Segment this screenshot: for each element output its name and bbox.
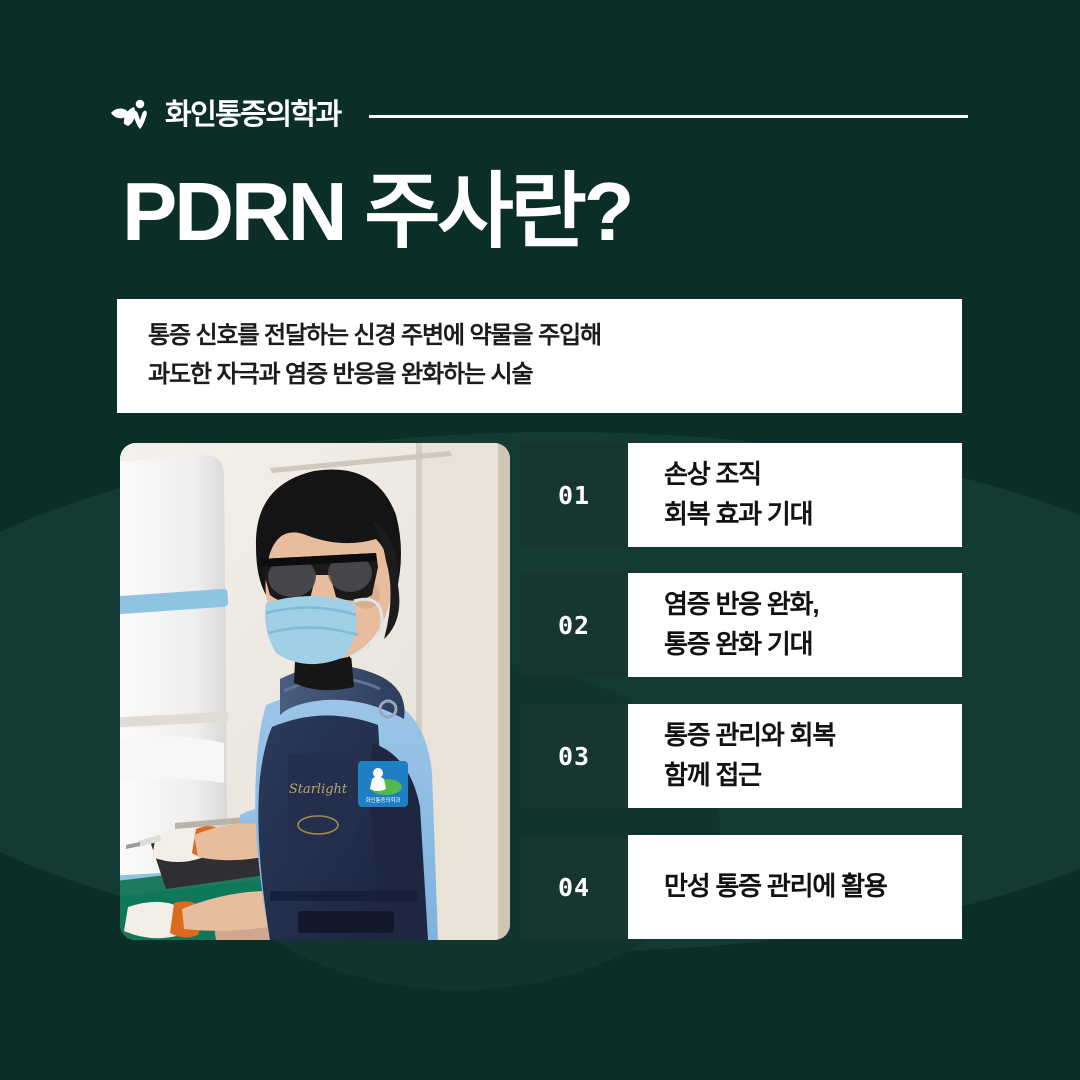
benefit-item-01[interactable]: 01 손상 조직 회복 효과 기대 [520, 443, 962, 547]
procedure-photo: Starlight 화인통증의학과 [120, 443, 510, 940]
benefit-line: 통증 완화 기대 [664, 625, 962, 665]
procedure-photo-illustration: Starlight 화인통증의학과 [120, 443, 510, 940]
svg-text:화인통증의학과: 화인통증의학과 [366, 796, 401, 804]
header-divider [369, 115, 968, 118]
benefit-line: 함께 접근 [664, 756, 962, 796]
benefit-line: 염증 반응 완화, [664, 585, 962, 625]
brand-logo: 화인통증의학과 [110, 98, 341, 132]
description-line-1: 통증 신호를 전달하는 신경 주변에 약물을 주입해 [148, 317, 962, 356]
leaf-person-logo-icon [110, 98, 156, 132]
svg-text:Starlight: Starlight [289, 782, 348, 797]
benefit-number-04: 04 [520, 835, 628, 939]
benefit-item-04[interactable]: 04 만성 통증 관리에 활용 [520, 835, 962, 939]
benefit-item-03[interactable]: 03 통증 관리와 회복 함께 접근 [520, 704, 962, 808]
benefit-line: 손상 조직 [664, 455, 962, 495]
benefits-list: 01 손상 조직 회복 효과 기대 02 염증 반응 완화, 통증 완화 기대 … [520, 443, 962, 940]
benefit-number-03: 03 [520, 704, 628, 808]
benefit-item-02[interactable]: 02 염증 반응 완화, 통증 완화 기대 [520, 573, 962, 677]
brand-name: 화인통증의학과 [165, 101, 341, 130]
description-line-2: 과도한 자극과 염증 반응을 완화하는 시술 [148, 356, 962, 395]
benefit-text-04: 만성 통증 관리에 활용 [628, 835, 962, 939]
benefit-text-01: 손상 조직 회복 효과 기대 [628, 443, 962, 547]
brand-header: 화인통증의학과 [110, 92, 968, 138]
benefit-number-02: 02 [520, 573, 628, 677]
benefit-line: 회복 효과 기대 [664, 495, 962, 535]
description-panel: 통증 신호를 전달하는 신경 주변에 약물을 주입해 과도한 자극과 염증 반응… [117, 299, 962, 413]
benefit-text-03: 통증 관리와 회복 함께 접근 [628, 704, 962, 808]
benefit-line: 만성 통증 관리에 활용 [664, 871, 962, 902]
page-title: PDRN 주사란? [122, 166, 631, 259]
benefit-text-02: 염증 반응 완화, 통증 완화 기대 [628, 573, 962, 677]
benefit-line: 통증 관리와 회복 [664, 716, 962, 756]
benefit-number-01: 01 [520, 443, 628, 547]
